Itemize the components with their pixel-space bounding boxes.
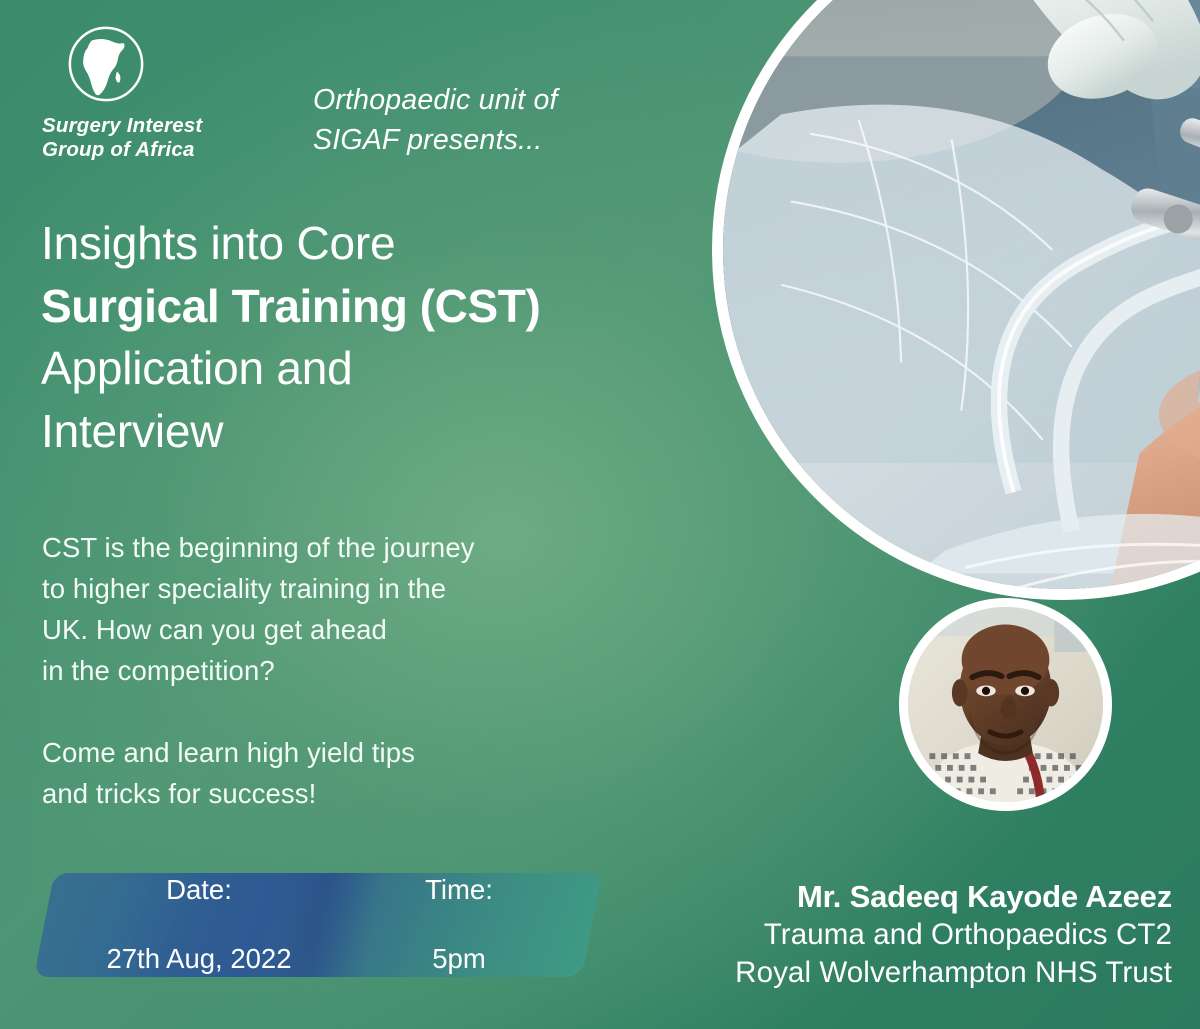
speaker-details: Mr. Sadeeq Kayode Azeez Trauma and Ortho…	[735, 877, 1172, 991]
page-title: Insights into Core Surgical Training (CS…	[41, 212, 681, 462]
avatar	[899, 598, 1112, 811]
time-value: 5pm	[364, 942, 554, 977]
headline-line-4: Interview	[41, 400, 681, 463]
headline-line-2: Surgical Training (CST)	[41, 275, 681, 338]
time-label: Time:	[364, 873, 554, 908]
surgery-photo-circle	[712, 0, 1200, 600]
event-flyer: Surgery Interest Group of Africa Orthopa…	[0, 0, 1200, 1029]
speaker-role: Trauma and Orthopaedics CT2	[735, 916, 1172, 953]
surgery-photo	[723, 0, 1200, 589]
speaker-name: Mr. Sadeeq Kayode Azeez	[735, 877, 1172, 916]
brand-name: Surgery Interest Group of Africa	[42, 114, 270, 162]
description: CST is the beginning of the journey to h…	[42, 528, 642, 815]
date-block: Date: 27th Aug, 2022	[34, 838, 364, 1011]
brand-logo: Surgery Interest Group of Africa	[40, 22, 270, 162]
presents-line: Orthopaedic unit of SIGAF presents...	[313, 80, 558, 161]
headline-line-3: Application and	[41, 337, 681, 400]
date-label: Date:	[34, 873, 364, 908]
headline-line-1: Insights into Core	[41, 212, 681, 275]
time-block: Time: 5pm	[364, 838, 554, 1011]
date-value: 27th Aug, 2022	[34, 942, 364, 977]
description-paragraph-2: Come and learn high yield tips and trick…	[42, 733, 642, 815]
speaker-headshot	[908, 607, 1103, 802]
speaker-organisation: Royal Wolverhampton NHS Trust	[735, 954, 1172, 991]
date-time-banner: Date: 27th Aug, 2022 Time: 5pm	[34, 873, 582, 977]
description-paragraph-1: CST is the beginning of the journey to h…	[42, 528, 642, 692]
africa-continent-circle-icon	[64, 22, 148, 106]
